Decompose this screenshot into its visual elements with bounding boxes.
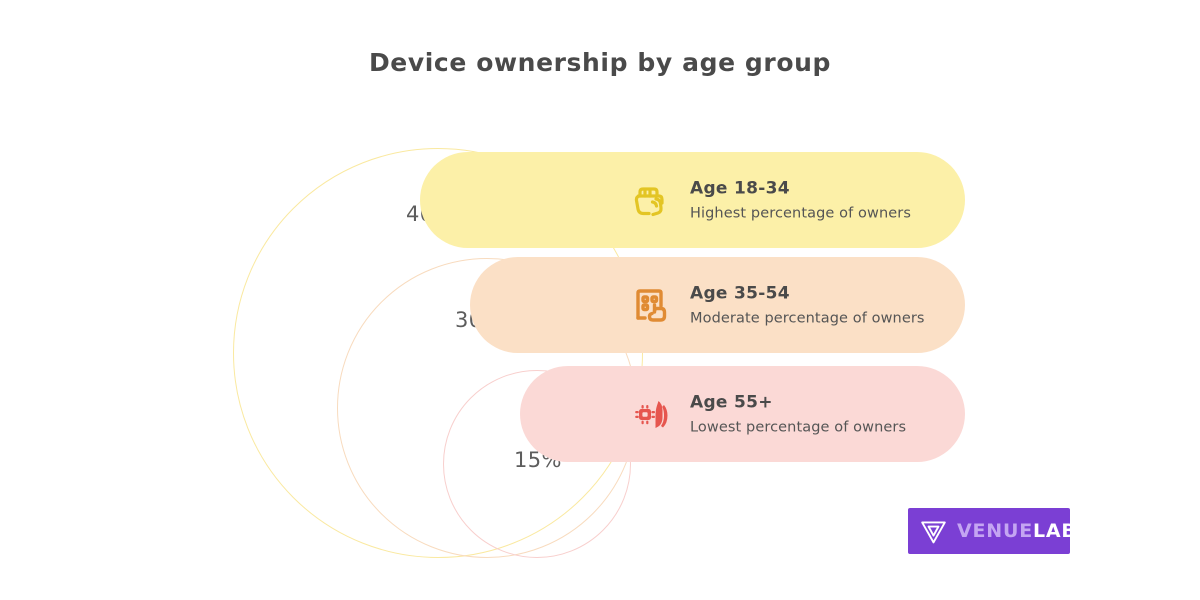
infographic-canvas: Device ownership by age group 40% 30% 15…	[0, 0, 1200, 600]
fist-icon	[628, 176, 676, 224]
legend-description-age-18-34: Highest percentage of owners	[690, 206, 911, 222]
legend-pill-age-35-54[interactable]: Age 35-54 Moderate percentage of owners	[470, 257, 965, 353]
legend-pill-age-55-plus[interactable]: Age 55+ Lowest percentage of owners	[520, 366, 965, 462]
legend-title-age-55-plus: Age 55+	[690, 393, 906, 413]
legend-description-age-55-plus: Lowest percentage of owners	[690, 420, 906, 436]
legend-text-age-18-34: Age 18-34 Highest percentage of owners	[690, 179, 911, 222]
page-title: Device ownership by age group	[0, 48, 1200, 77]
brand-name-secondary: LABS	[1033, 520, 1091, 542]
legend-text-age-55-plus: Age 55+ Lowest percentage of owners	[690, 393, 906, 436]
keypad-touch-icon	[628, 281, 676, 329]
legend-text-age-35-54: Age 35-54 Moderate percentage of owners	[690, 284, 925, 327]
legend-title-age-18-34: Age 18-34	[690, 179, 911, 199]
hand-chip-icon	[628, 390, 676, 438]
legend-description-age-35-54: Moderate percentage of owners	[690, 311, 925, 327]
brand-logo-text: VENUELABS	[957, 522, 1091, 541]
triangle-v-icon	[919, 517, 948, 546]
brand-name-primary: VENUE	[957, 520, 1033, 542]
brand-logo[interactable]: VENUELABS	[908, 508, 1070, 554]
legend-pill-age-18-34[interactable]: Age 18-34 Highest percentage of owners	[420, 152, 965, 248]
legend-title-age-35-54: Age 35-54	[690, 284, 925, 304]
